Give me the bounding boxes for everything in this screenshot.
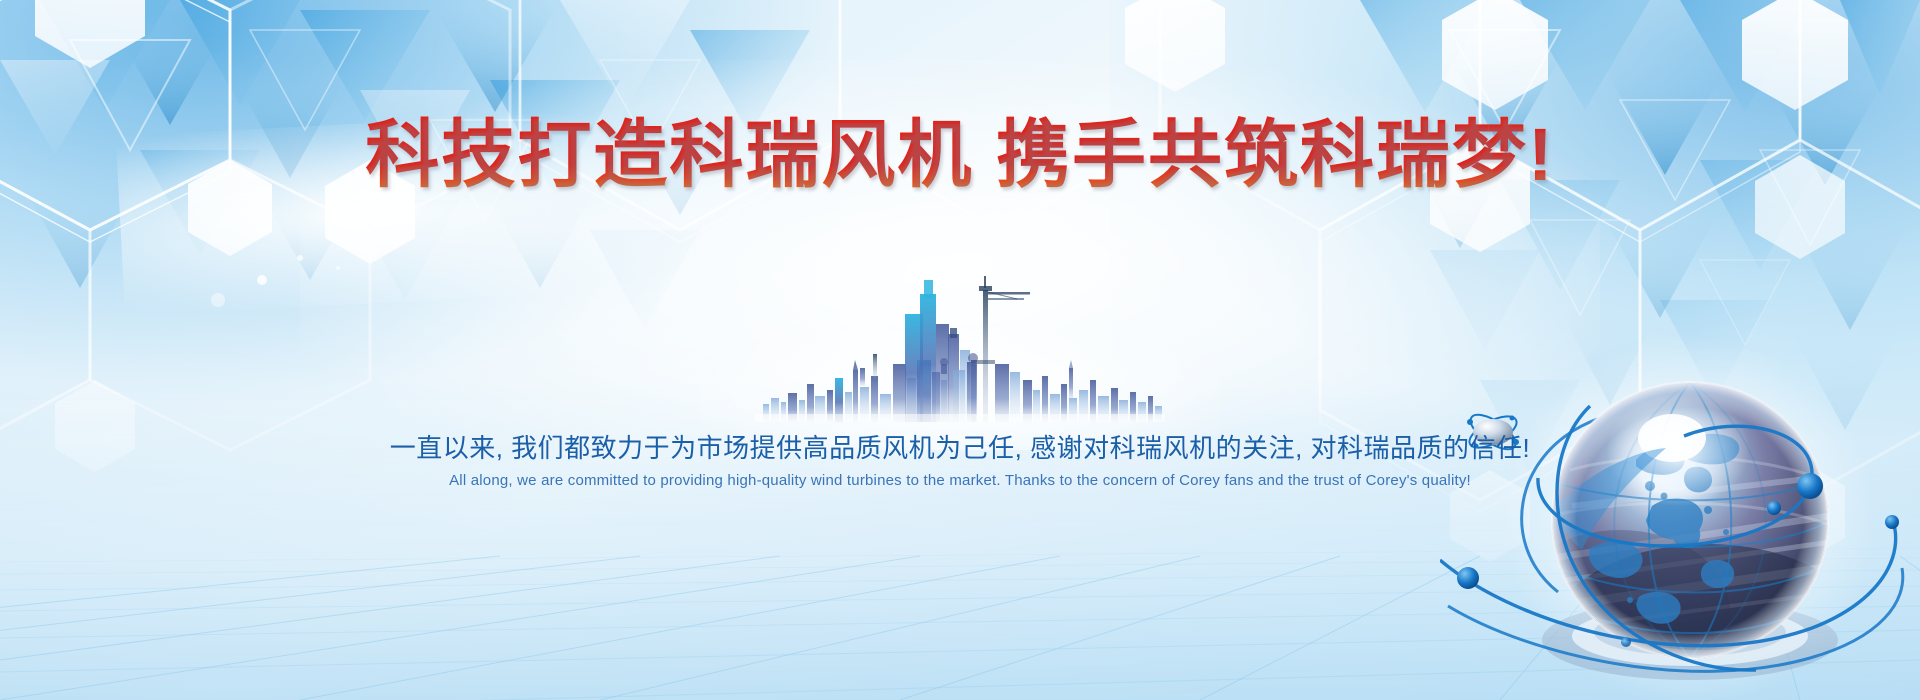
headline-text: 科技打造科瑞风机 携手共筑科瑞梦!	[365, 113, 1554, 196]
city-skyline-icon	[755, 272, 1165, 422]
subtitle-english: All along, we are committed to providing…	[0, 472, 1920, 489]
globe-icon	[1440, 310, 1910, 700]
subtitle-chinese: 一直以来, 我们都致力于为市场提供高品质风机为己任, 感谢对科瑞风机的关注, 对…	[0, 428, 1920, 465]
promo-banner: 科技打造科瑞风机 携手共筑科瑞梦! 一直以来, 我们都致力于为市场提供高品质风机…	[0, 0, 1920, 700]
page-title: 科技打造科瑞风机 携手共筑科瑞梦!	[0, 118, 1920, 192]
